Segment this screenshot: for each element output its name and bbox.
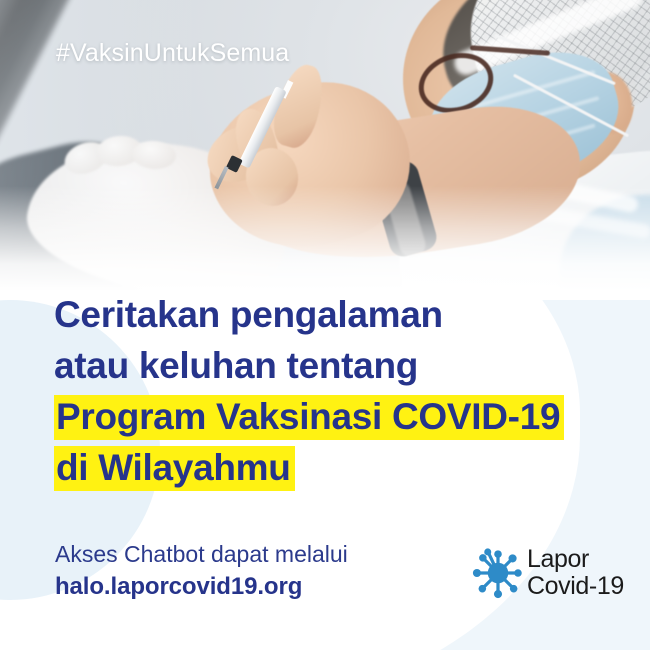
logo-wordmark: Lapor Covid-19 (527, 547, 624, 599)
cta-lead-text: Akses Chatbot dapat melalui (55, 538, 348, 570)
headline-block: Ceritakan pengalaman atau keluhan tentan… (54, 289, 614, 493)
hashtag-label: #VaksinUntukSemua (56, 39, 289, 68)
headline-line-2-text: atau keluhan tentang (54, 345, 418, 386)
lapor-covid-logo[interactable]: Lapor Covid-19 (471, 546, 624, 600)
headline-line-1: Ceritakan pengalaman (54, 289, 614, 340)
headline-line-3: Program Vaksinasi COVID-19 (54, 391, 614, 442)
headline-line-3-text: Program Vaksinasi COVID-19 (54, 395, 564, 440)
cta-block: Akses Chatbot dapat melalui halo.laporco… (55, 538, 348, 603)
headline-line-2: atau keluhan tentang (54, 340, 614, 391)
cta-url-link[interactable]: halo.laporcovid19.org (55, 570, 348, 603)
headline-line-4-text: di Wilayahmu (54, 446, 295, 491)
headline-line-1-text: Ceritakan pengalaman (54, 294, 443, 335)
virus-icon (471, 546, 525, 600)
headline-line-4: di Wilayahmu (54, 442, 614, 493)
logo-word-lapor: Lapor (527, 547, 624, 572)
poster-canvas: #VaksinUntukSemua Ceritakan pengalaman a… (0, 0, 650, 650)
logo-word-covid19: Covid-19 (527, 574, 624, 599)
